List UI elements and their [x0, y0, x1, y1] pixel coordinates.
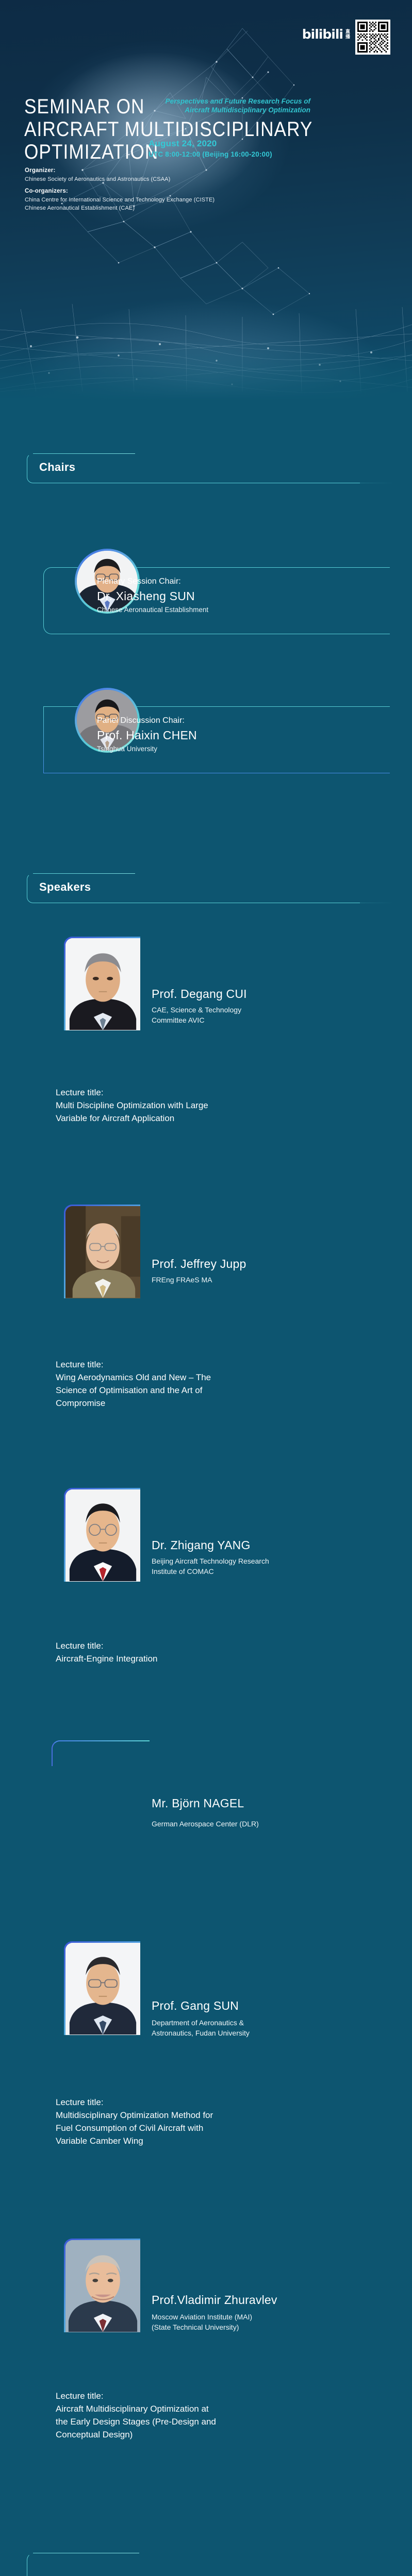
section-top-rule: [33, 873, 135, 874]
speaker-avatar: [64, 937, 140, 1030]
speaker-name: Prof. Jeffrey Jupp: [152, 1256, 246, 1272]
chair-affiliation: Chinese Aeronautical Establishment: [97, 604, 208, 615]
lecture-label: Lecture title:: [56, 2389, 104, 2402]
lecture-label: Lecture title:: [56, 2096, 104, 2109]
speaker-name: Dr. Zhigang YANG: [152, 1537, 251, 1553]
event-datetime: August 24, 2020 UTC 8:00-12:00 (Beijing …: [149, 138, 272, 159]
coorganizer-1: China Centre for International Science a…: [25, 196, 215, 204]
organizers-block: Organizer: Chinese Society of Aeronautic…: [25, 166, 215, 212]
speaker-affiliation-line-2: Astronautics, Fudan University: [152, 2028, 368, 2038]
portrait-degang-cui: [65, 938, 140, 1030]
lecture-title-line-2: Variable for Aircraft Application: [56, 1112, 298, 1125]
lecture-title-line-1: Multi Discipline Optimization with Large: [56, 1099, 298, 1112]
speaker-avatar: [64, 2239, 140, 2332]
speaker-name: Mr. Björn NAGEL: [152, 1795, 244, 1811]
chair-card-0: Plenary Session Chair: Dr. Xiasheng SUN …: [0, 549, 412, 641]
chair-name: Dr. Xiasheng SUN: [97, 588, 208, 604]
speaker-avatar: [64, 1205, 140, 1298]
bilibili-logo: bilibili 直 播: [302, 27, 350, 42]
chair-role: Plenary Session Chair:: [97, 575, 208, 588]
portrait-zhigang-yang: [65, 1489, 140, 1581]
lecture-title-line-2: Fuel Consumption of Civil Aircraft with: [56, 2122, 298, 2134]
chair-role: Panel Discussion Chair:: [97, 715, 197, 727]
portrait-vladimir-zhuravlev: [65, 2240, 140, 2332]
organizer-label: Organizer:: [25, 166, 215, 175]
event-date: August 24, 2020: [149, 138, 272, 149]
event-time: UTC 8:00-12:00 (Beijing 16:00-20:00): [149, 149, 272, 159]
chair-card-1: Panel Discussion Chair: Prof. Haixin CHE…: [0, 688, 412, 781]
section-title: Chairs: [39, 461, 75, 474]
lecture-label: Lecture title:: [56, 1086, 104, 1099]
speaker-name: Prof. Gang SUN: [152, 1998, 239, 2013]
speaker-affiliation-line-1: German Aerospace Center (DLR): [152, 1819, 368, 1829]
speaker-avatar: [64, 1941, 140, 2035]
section-bottom-rule: [33, 483, 394, 483]
chair-info: Plenary Session Chair: Dr. Xiasheng SUN …: [97, 575, 208, 615]
speaker-affiliation-line-1: CAE, Science & Technology: [152, 1005, 368, 1015]
section-frame: [27, 453, 360, 483]
coorganizers-label: Co-organizers:: [25, 187, 215, 196]
section-top-rule: [33, 453, 135, 454]
speaker-affiliation-line-2: Institute of COMAC: [152, 1566, 368, 1577]
speaker-affiliation-line-1: Moscow Aviation Institute (MAI): [152, 2312, 368, 2322]
corner-bracket-decoration: [52, 1740, 150, 1771]
lecture-title-line-3: Compromise: [56, 1397, 298, 1410]
speaker-avatar: [64, 1488, 140, 1582]
chair-info: Panel Discussion Chair: Prof. Haixin CHE…: [97, 715, 197, 754]
lecture-title-line-1: Aircraft-Engine Integration: [56, 1652, 298, 1665]
section-header-speakers: Speakers: [27, 873, 388, 904]
lecture-label: Lecture title:: [56, 1358, 104, 1371]
portrait-jeffrey-jupp: [65, 1206, 140, 1298]
lecture-title-line-2: the Early Design Stages (Pre-Design and: [56, 2415, 298, 2428]
lecture-label: Lecture title:: [56, 1639, 104, 1652]
lecture-title-line-1: Wing Aerodynamics Old and New – The: [56, 1371, 298, 1384]
coorganizer-2: Chinese Aeronautical Establishment (CAE): [25, 204, 215, 212]
footer-frame: [27, 2553, 361, 2576]
section-header-chairs: Chairs: [27, 453, 388, 484]
bilibili-wordmark: bilibili: [302, 27, 343, 42]
hero-banner: bilibili 直 播 SEMINAR ON AIRCRAFT MULTIDI…: [0, 0, 412, 401]
lecture-title-line-2: Science of Optimisation and the Art of: [56, 1384, 298, 1397]
lecture-title-line-1: Multidisciplinary Optimization Method fo…: [56, 2109, 298, 2122]
subtitle-line-1: Perspectives and Future Research Focus o…: [140, 97, 310, 106]
speaker-name: Prof.Vladimir Zhuravlev: [152, 2292, 277, 2308]
speaker-name: Prof. Degang CUI: [152, 986, 247, 1002]
lecture-title-line-3: Variable Camber Wing: [56, 2134, 298, 2147]
footer-top-rule: [33, 2553, 139, 2553]
speaker-affiliation-line-1: FREng FRAeS MA: [152, 1275, 368, 1285]
speaker-affiliation-line-2: (State Technical University): [152, 2322, 368, 2332]
speaker-affiliation-line-1: Beijing Aircraft Technology Research: [152, 1556, 368, 1566]
organizer-name: Chinese Society of Aeronautics and Astro…: [25, 175, 215, 183]
title-line-2: AIRCRAFT MULTIDISCIPLINARY: [24, 118, 351, 141]
section-title: Speakers: [39, 880, 91, 894]
qr-code[interactable]: [355, 20, 390, 55]
hero-fade-overlay: [0, 339, 412, 401]
footer-program-link: For full program, please download from: …: [27, 2553, 388, 2576]
speaker-affiliation-line-2: Committee AVIC: [152, 1015, 368, 1025]
lecture-title-line-1: Aircraft Multidisciplinary Optimization …: [56, 2402, 298, 2415]
seminar-subtitle: Perspectives and Future Research Focus o…: [140, 97, 310, 114]
chair-affiliation: Tsinghua University: [97, 743, 197, 754]
portrait-gang-sun: [65, 1943, 140, 2035]
section-bottom-rule: [33, 903, 394, 903]
subtitle-line-2: Aircraft Multidisciplinary Optimization: [140, 106, 310, 114]
speaker-affiliation-line-1: Department of Aeronautics &: [152, 2018, 368, 2028]
bilibili-live-label: 直 播: [345, 29, 350, 39]
lecture-title-line-3: Conceptual Design): [56, 2428, 298, 2441]
chair-name: Prof. Haixin CHEN: [97, 727, 197, 743]
